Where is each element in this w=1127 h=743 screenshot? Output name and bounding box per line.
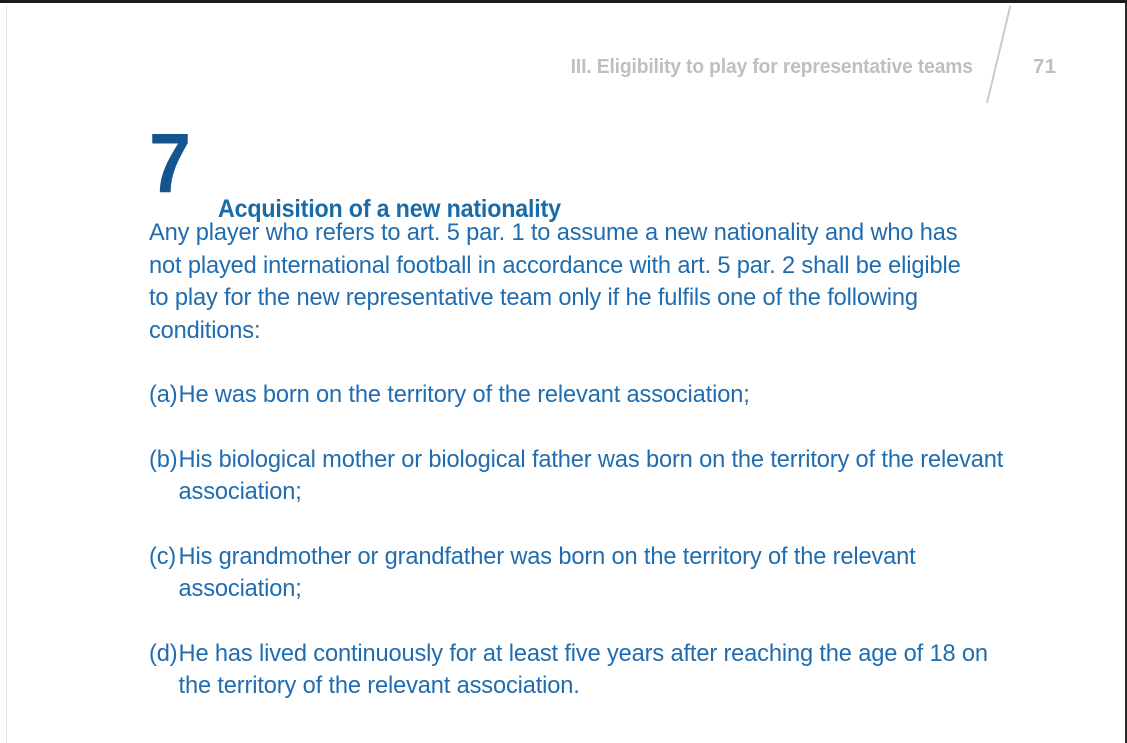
running-header: III. Eligibility to play for representat… [0, 55, 1125, 89]
running-header-section-title: III. Eligibility to play for representat… [571, 55, 973, 79]
condition-label-c: (c) [149, 541, 176, 574]
condition-label-a: (a) [149, 379, 177, 412]
page-left-edge-rule [6, 6, 7, 743]
condition-text-c: His grandmother or grandfather was born … [179, 543, 916, 603]
condition-text-a: He was born on the territory of the rele… [179, 381, 750, 408]
article-number: 7 [149, 121, 189, 205]
article-heading: 7 Acquisition of a new nationality [149, 131, 1049, 217]
condition-text-b: His biological mother or biological fath… [179, 446, 1004, 506]
conditions-list: (a) He was born on the territory of the … [149, 379, 1049, 703]
article-content: 7 Acquisition of a new nationality Any p… [149, 131, 1049, 703]
condition-text-d: He has lived continuously for at least f… [179, 640, 988, 700]
page-number: 71 [1033, 55, 1056, 79]
condition-label-d: (d) [149, 638, 177, 671]
condition-item-c: (c) His grandmother or grandfather was b… [149, 541, 1026, 606]
condition-item-b: (b) His biological mother or biological … [149, 444, 1026, 509]
article-intro-paragraph: Any player who refers to art. 5 par. 1 t… [149, 217, 981, 347]
condition-label-b: (b) [149, 444, 177, 477]
condition-item-d: (d) He has lived continuously for at lea… [149, 638, 1026, 703]
slash-divider-icon [986, 6, 1011, 104]
condition-item-a: (a) He was born on the territory of the … [149, 379, 1026, 412]
document-page: III. Eligibility to play for representat… [0, 0, 1127, 743]
